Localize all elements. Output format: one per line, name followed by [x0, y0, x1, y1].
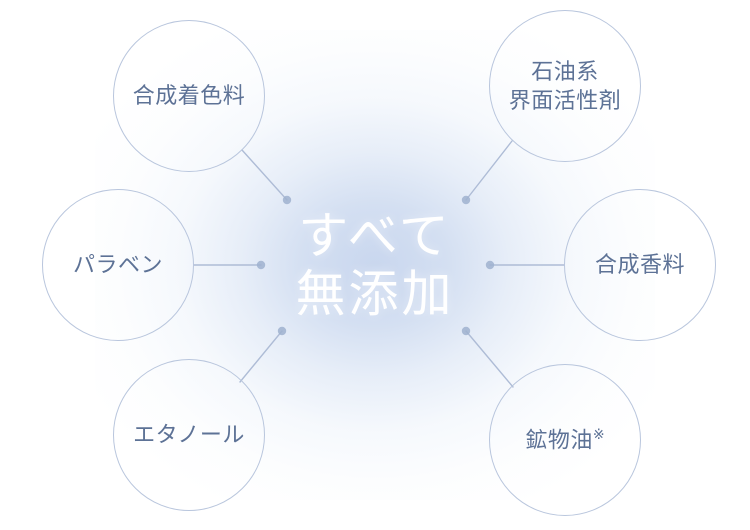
node-label-paraben: パラベン — [73, 250, 163, 279]
link-petroleum-surfactant — [462, 141, 512, 204]
node-synthetic-fragrance[interactable]: 合成香料 — [564, 189, 716, 341]
link-synthetic-colorant — [242, 150, 291, 204]
node-ethanol[interactable]: エタノール — [113, 359, 265, 511]
link-synthetic-fragrance — [486, 261, 564, 269]
infographic-canvas: 合成着色料石油系 界面活性剤パラベン合成香料エタノール鉱物油※ すべて 無添加 — [0, 0, 750, 530]
node-mineral-oil[interactable]: 鉱物油※ — [489, 364, 641, 516]
node-paraben[interactable]: パラベン — [42, 189, 194, 341]
node-petroleum-surfactant[interactable]: 石油系 界面活性剤 — [489, 10, 641, 162]
node-label-petroleum-surfactant: 石油系 界面活性剤 — [509, 57, 622, 115]
link-synthetic-fragrance-dot — [486, 261, 494, 269]
link-ethanol-dot — [278, 327, 286, 335]
link-paraben — [194, 261, 265, 269]
link-mineral-oil-line — [466, 331, 513, 387]
node-label-synthetic-fragrance: 合成香料 — [595, 250, 685, 279]
link-synthetic-colorant-line — [242, 150, 287, 200]
reference-mark-icon-mineral-oil: ※ — [593, 426, 605, 442]
link-mineral-oil-dot — [462, 327, 470, 335]
link-petroleum-surfactant-dot — [462, 196, 470, 204]
center-headline: すべて 無添加 — [296, 207, 455, 323]
link-petroleum-surfactant-line — [466, 141, 512, 200]
link-paraben-dot — [257, 261, 265, 269]
link-ethanol-line — [240, 331, 282, 382]
node-synthetic-colorant[interactable]: 合成着色料 — [113, 20, 265, 172]
link-ethanol — [240, 327, 286, 382]
node-label-synthetic-colorant: 合成着色料 — [133, 81, 246, 110]
link-mineral-oil — [462, 327, 513, 387]
link-synthetic-colorant-dot — [283, 196, 291, 204]
node-label-mineral-oil: 鉱物油※ — [525, 425, 604, 454]
node-label-ethanol: エタノール — [133, 420, 245, 449]
